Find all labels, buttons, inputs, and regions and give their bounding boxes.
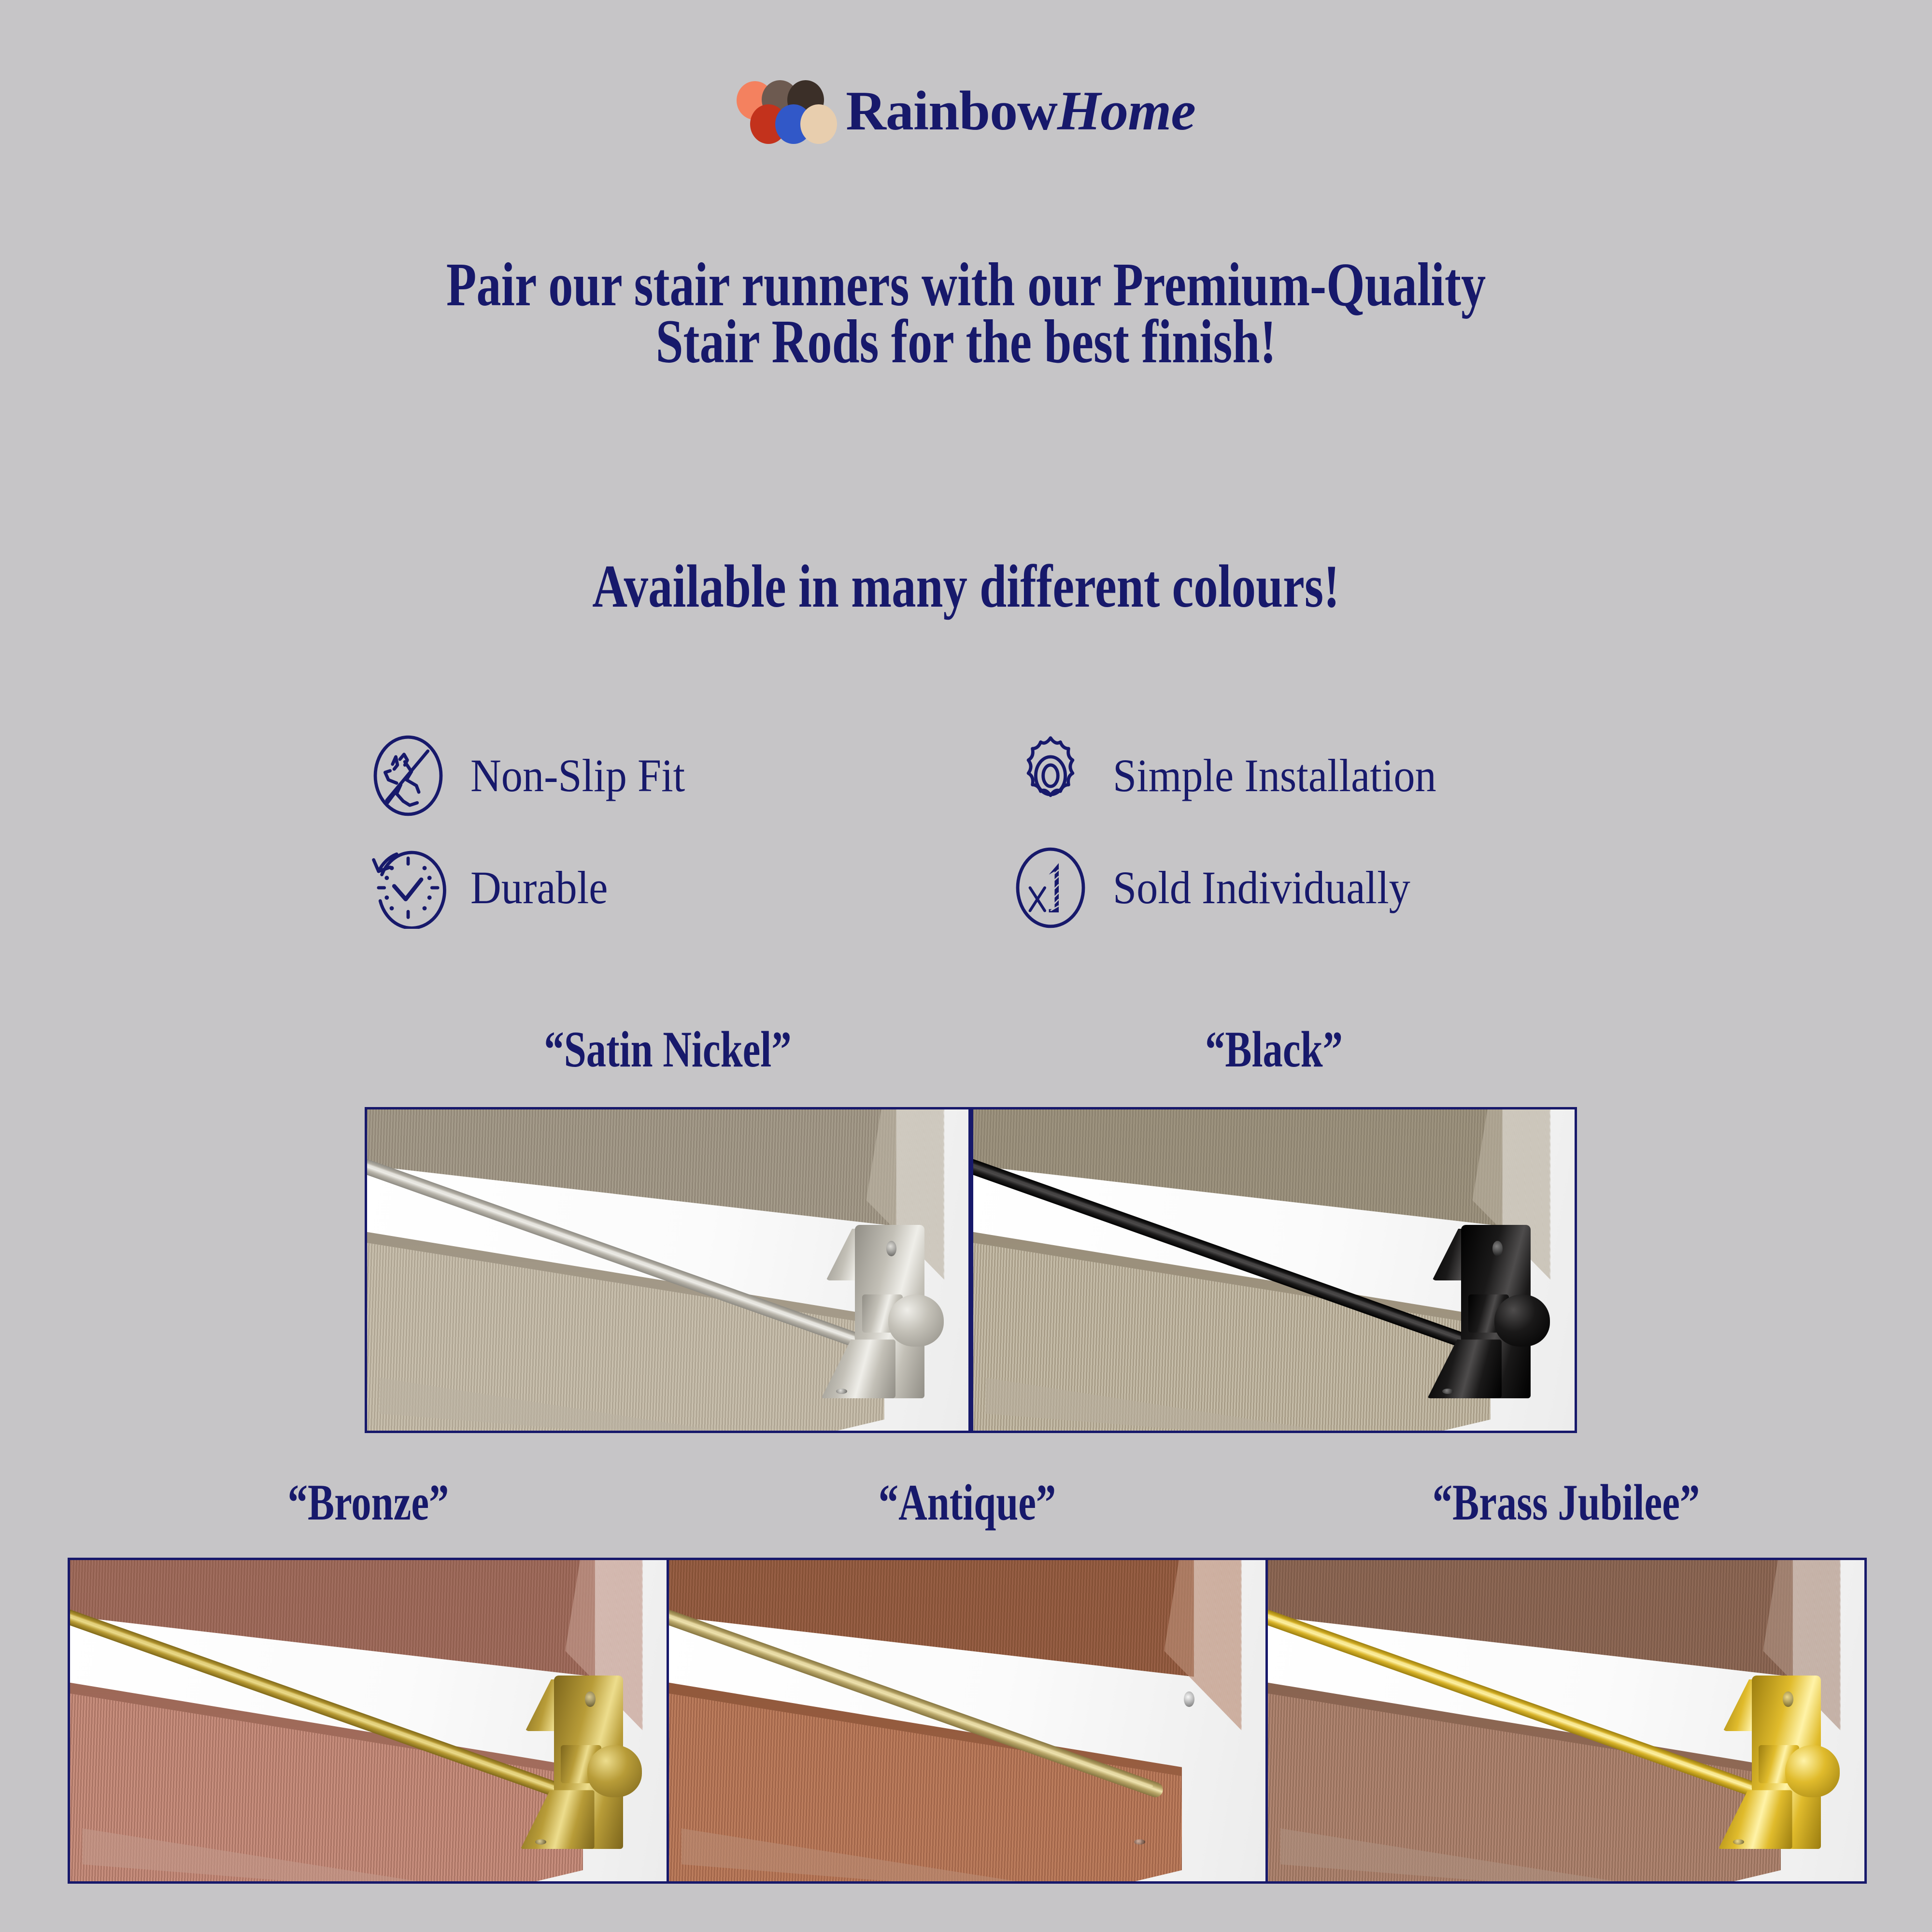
- times-one-icon: [1009, 847, 1092, 929]
- feature-sold-individually: Sold Individually: [1009, 832, 1633, 944]
- feature-label-simple-installation: Simple Installation: [1113, 753, 1436, 799]
- product-photo-antique: [667, 1558, 1268, 1884]
- product-photo-bronze: [68, 1558, 669, 1884]
- swatch-label-antique: “Antique”: [733, 1477, 1202, 1528]
- brand-logo: RainbowHome: [0, 80, 1932, 142]
- logo-word-rainbow: Rainbow: [846, 80, 1057, 142]
- headline-line-2: Stair Rods for the best finish!: [193, 313, 1739, 370]
- swatch-label-brass-jubilee: “Brass Jubilee”: [1332, 1477, 1801, 1528]
- headline-line-1: Pair our stair runners with our Premium-…: [193, 256, 1739, 313]
- product-photo-black: [971, 1107, 1577, 1433]
- feature-non-slip-fit: Non-Slip Fit: [367, 720, 990, 832]
- logo-word-home: Home: [1057, 80, 1195, 142]
- gear-icon: [1009, 735, 1092, 817]
- feature-simple-installation: Simple Installation: [1009, 720, 1633, 832]
- feature-label-sold-individually: Sold Individually: [1113, 865, 1410, 911]
- logo-dots: [737, 80, 833, 142]
- clock-check-icon: [367, 847, 449, 929]
- swatch-label-bronze: “Bronze”: [134, 1477, 603, 1528]
- sub-headline: Available in many different colours!: [193, 556, 1739, 617]
- dot-tan: [800, 104, 837, 144]
- product-photo-brass-jubilee: [1265, 1558, 1867, 1884]
- subheadline-text: Available in many different colours!: [193, 556, 1739, 617]
- logo-wordmark: RainbowHome: [846, 83, 1195, 139]
- no-slip-icon: [367, 735, 449, 817]
- product-photo-satin-nickel: [365, 1107, 971, 1433]
- feature-list: Non-Slip Fit Simple Installation: [367, 720, 1633, 944]
- swatch-label-black: “Black”: [1037, 1024, 1510, 1075]
- feature-label-non-slip: Non-Slip Fit: [470, 753, 685, 799]
- feature-label-durable: Durable: [470, 865, 608, 911]
- feature-durable: Durable: [367, 832, 990, 944]
- page-title: Pair our stair runners with our Premium-…: [193, 256, 1739, 370]
- promo-page: RainbowHome Pair our stair runners with …: [0, 0, 1932, 1932]
- swatch-label-satin-nickel: “Satin Nickel”: [431, 1024, 904, 1075]
